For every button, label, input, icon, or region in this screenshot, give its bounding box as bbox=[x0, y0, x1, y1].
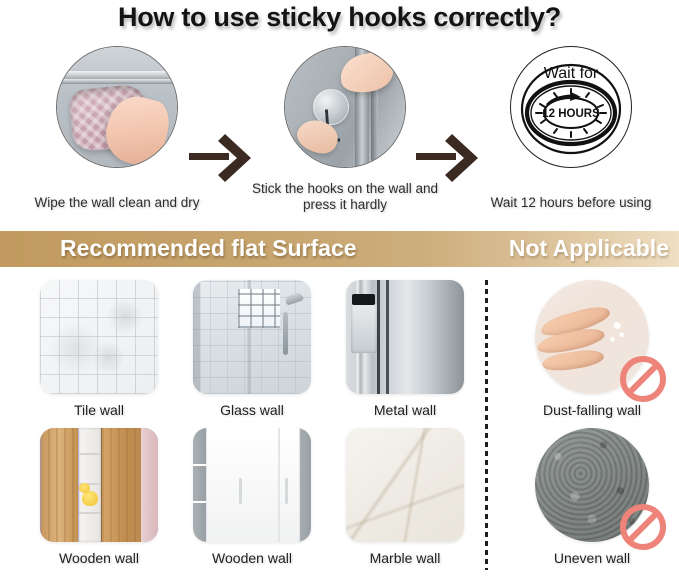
white-cabinet-photo bbox=[193, 428, 311, 542]
surface-label: Marble wall bbox=[325, 550, 485, 566]
surface-label: Wooden wall bbox=[19, 550, 179, 566]
surface-card-tile-wall: Tile wall bbox=[19, 276, 179, 424]
step-3: 12 HOURS Wait for Wait 12 hours before u… bbox=[466, 46, 676, 211]
section-banner: Recommended flat Surface Not Applicable bbox=[0, 231, 679, 267]
metal-wall-photo bbox=[346, 280, 464, 394]
door-gap bbox=[377, 280, 380, 394]
duck-toy bbox=[82, 491, 97, 506]
column-divider bbox=[485, 280, 488, 570]
shelf-line bbox=[193, 501, 206, 503]
cabinet-side-left bbox=[193, 428, 206, 542]
control-panel bbox=[352, 294, 376, 305]
wood-panel-left bbox=[40, 428, 78, 542]
door-split bbox=[278, 428, 280, 542]
wooden-wardrobe-photo bbox=[40, 428, 158, 542]
background-wall bbox=[141, 428, 158, 542]
surfaces-grid: Tile wall Glass wall Metal wall bbox=[0, 272, 679, 581]
cabinet-handle bbox=[285, 478, 288, 504]
surface-card-dust-falling-wall: Dust-falling wall bbox=[512, 276, 672, 424]
surface-card-wooden-wall-2: Wooden wall bbox=[172, 424, 332, 572]
surface-label: Tile wall bbox=[19, 402, 179, 418]
prohibited-icon bbox=[620, 504, 666, 550]
shower-bar bbox=[283, 312, 288, 355]
clock-center-text: 12 HOURS bbox=[542, 108, 600, 120]
surface-card-wooden-wall-1: Wooden wall bbox=[19, 424, 179, 572]
clock-illustration: 12 HOURS Wait for bbox=[510, 46, 632, 168]
banner-not-applicable-label: Not Applicable bbox=[509, 235, 669, 262]
surface-card-glass-wall: Glass wall bbox=[172, 276, 332, 424]
cabinet-handle bbox=[239, 478, 242, 504]
step-1: Wipe the wall clean and dry bbox=[12, 46, 222, 211]
tile-wall-photo bbox=[40, 280, 158, 394]
step-3-caption: Wait 12 hours before using bbox=[466, 195, 676, 211]
infographic-page: How to use sticky hooks correctly? Wipe … bbox=[0, 0, 679, 581]
surface-label: Glass wall bbox=[172, 402, 332, 418]
shelf-line bbox=[193, 464, 206, 466]
stick-hook-photo bbox=[284, 46, 406, 168]
marble-wall-photo bbox=[346, 428, 464, 542]
wall-rail-lower bbox=[57, 79, 177, 84]
door-gap-secondary bbox=[386, 280, 389, 394]
shelf-line bbox=[79, 512, 101, 514]
banner-recommended-label: Recommended flat Surface bbox=[60, 235, 357, 262]
surface-card-uneven-wall: Uneven wall bbox=[512, 424, 672, 572]
surface-label: Wooden wall bbox=[172, 550, 332, 566]
step-2: Stick the hooks on the wall and press it… bbox=[240, 46, 450, 211]
glass-wall-photo bbox=[193, 280, 311, 394]
window bbox=[238, 289, 280, 328]
page-title: How to use sticky hooks correctly? bbox=[0, 2, 679, 33]
surface-label: Dust-falling wall bbox=[512, 402, 672, 418]
water-dispenser bbox=[351, 303, 377, 353]
marble-texture bbox=[346, 428, 464, 542]
shelf-line bbox=[79, 453, 101, 455]
prohibited-icon bbox=[620, 356, 666, 402]
wood-door bbox=[101, 428, 142, 542]
surface-label: Metal wall bbox=[325, 402, 485, 418]
step-1-caption: Wipe the wall clean and dry bbox=[12, 195, 222, 211]
clock-top-text: Wait for bbox=[544, 65, 599, 82]
surface-card-marble-wall: Marble wall bbox=[325, 424, 485, 572]
surface-card-metal-wall: Metal wall bbox=[325, 276, 485, 424]
wipe-wall-photo bbox=[56, 46, 178, 168]
tile-texture bbox=[40, 280, 158, 394]
surface-label: Uneven wall bbox=[512, 550, 672, 566]
step-2-caption: Stick the hooks on the wall and press it… bbox=[240, 181, 450, 213]
wait-clock-icon: 12 HOURS Wait for bbox=[511, 47, 631, 167]
steps-section: Wipe the wall clean and dry Stick the ho… bbox=[0, 46, 679, 211]
